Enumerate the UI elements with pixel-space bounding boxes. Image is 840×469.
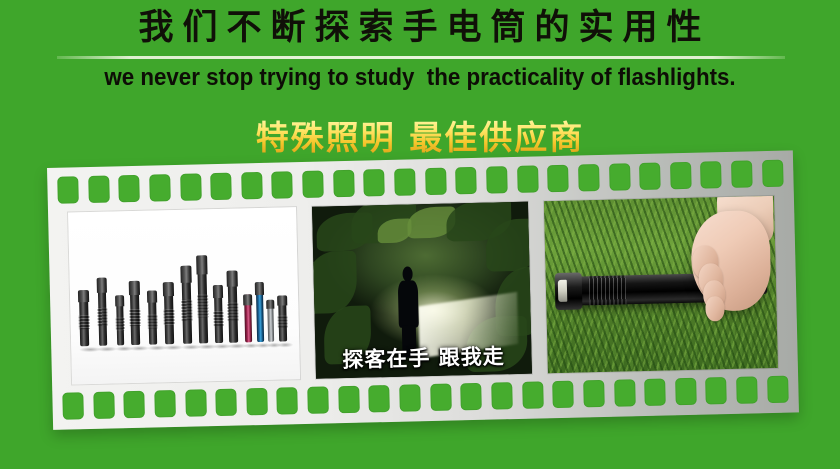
perforation-hole bbox=[180, 173, 202, 200]
perforation-hole bbox=[644, 378, 666, 405]
perforation-hole bbox=[338, 386, 360, 413]
perforation-hole bbox=[455, 167, 477, 194]
filmstrip-body: 探客在手 跟我走 bbox=[47, 150, 799, 430]
perforation-hole bbox=[736, 376, 758, 403]
film-frame-night-forest[interactable]: 探客在手 跟我走 bbox=[312, 202, 532, 379]
hand-torch-photo bbox=[544, 196, 778, 373]
perforation-hole bbox=[277, 387, 299, 414]
perforation-hole bbox=[609, 163, 631, 190]
perforation-hole bbox=[333, 170, 355, 197]
perforation-hole bbox=[215, 389, 237, 416]
perforation-hole bbox=[57, 176, 79, 203]
perforation-hole bbox=[425, 168, 447, 195]
perforation-hole bbox=[364, 169, 386, 196]
perforation-hole bbox=[246, 388, 268, 415]
filmstrip: 探客在手 跟我走 bbox=[47, 150, 799, 440]
perforation-hole bbox=[399, 384, 421, 411]
perforation-hole bbox=[639, 163, 661, 190]
perforation-hole bbox=[394, 168, 416, 195]
perforation-hole bbox=[552, 381, 574, 408]
perforation-hole bbox=[675, 378, 697, 405]
perforation-hole bbox=[307, 386, 329, 413]
perforation-hole bbox=[578, 164, 600, 191]
perforation-hole bbox=[700, 161, 722, 188]
perforation-hole bbox=[767, 376, 789, 403]
perforation-hole bbox=[302, 170, 324, 197]
perforation-hole bbox=[491, 382, 513, 409]
perforation-hole bbox=[154, 390, 176, 417]
title-divider bbox=[57, 56, 785, 59]
perforation-hole bbox=[369, 385, 391, 412]
tagline-text: 特殊照明 最佳供应商 bbox=[256, 118, 585, 158]
perforation-hole bbox=[731, 160, 753, 187]
perforation-hole bbox=[149, 174, 171, 201]
perforation-hole bbox=[706, 377, 728, 404]
perforation-hole bbox=[614, 379, 636, 406]
perforation-hole bbox=[517, 165, 539, 192]
perforation-hole bbox=[62, 392, 84, 419]
promo-banner: 我们不断探索手电筒的实用性 we never stop trying to st… bbox=[0, 0, 840, 469]
perforation-hole bbox=[210, 173, 232, 200]
perforation-hole bbox=[547, 165, 569, 192]
perforation-hole bbox=[583, 380, 605, 407]
hand bbox=[668, 210, 772, 326]
film-frame-product-lineup[interactable] bbox=[68, 207, 300, 384]
perforation-hole bbox=[522, 381, 544, 408]
perforation-hole bbox=[461, 383, 483, 410]
film-frame-hand-torch[interactable] bbox=[544, 196, 778, 373]
perforation-hole bbox=[185, 389, 207, 416]
subtitle: we never stop trying to study the practi… bbox=[29, 62, 810, 94]
perforation-hole bbox=[241, 172, 263, 199]
flashlight-lineup-photo bbox=[68, 207, 300, 384]
perforation-hole bbox=[124, 391, 146, 418]
perforation-hole bbox=[88, 176, 110, 203]
perforation-hole bbox=[762, 160, 784, 187]
perforation-hole bbox=[272, 171, 294, 198]
perforation-hole bbox=[486, 166, 508, 193]
perforation-hole bbox=[93, 391, 115, 418]
film-frame-caption: 探客在手 跟我走 bbox=[315, 340, 532, 375]
perforation-hole bbox=[670, 162, 692, 189]
page-title: 我们不断探索手电筒的实用性 bbox=[0, 6, 840, 50]
perforation-hole bbox=[430, 384, 452, 411]
perforation-hole bbox=[118, 175, 140, 202]
